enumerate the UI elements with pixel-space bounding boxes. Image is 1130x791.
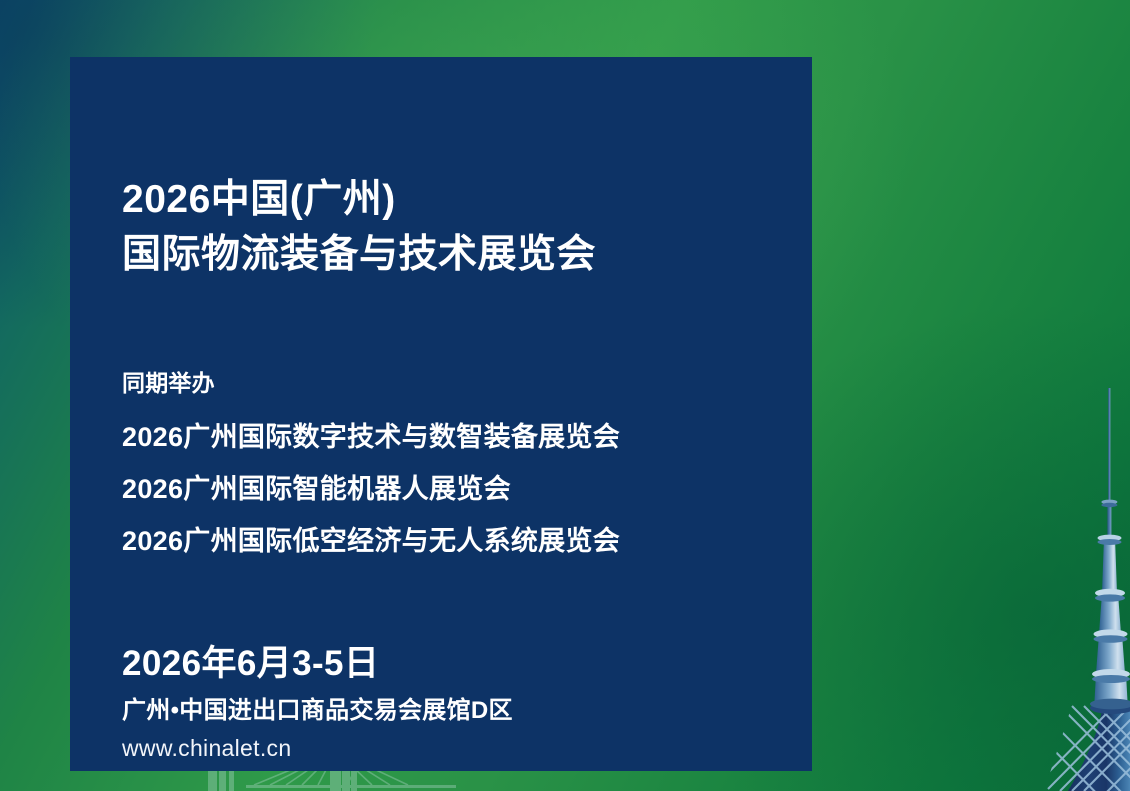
concurrent-event-item: 2026广州国际智能机器人展览会 — [122, 467, 511, 506]
info-panel: 2026中国(广州) 国际物流装备与技术展览会 同期举办 2026广州国际数字技… — [70, 57, 812, 771]
event-date: 2026年6月3-5日 — [122, 635, 379, 686]
concurrent-event-item: 2026广州国际数字技术与数智装备展览会 — [122, 415, 620, 454]
exhibition-poster: 2026中国(广州) 国际物流装备与技术展览会 同期举办 2026广州国际数字技… — [0, 0, 1130, 791]
canton-tower-icon — [1038, 388, 1130, 791]
website-url[interactable]: www.chinalet.cn — [122, 735, 291, 762]
page-title-line-1: 2026中国(广州) — [122, 168, 396, 224]
event-venue: 广州•中国进出口商品交易会展馆D区 — [122, 690, 513, 725]
page-title-line-2: 国际物流装备与技术展览会 — [122, 223, 596, 279]
concurrent-events-label: 同期举办 — [122, 364, 215, 398]
concurrent-event-item: 2026广州国际低空经济与无人系统展览会 — [122, 519, 620, 558]
